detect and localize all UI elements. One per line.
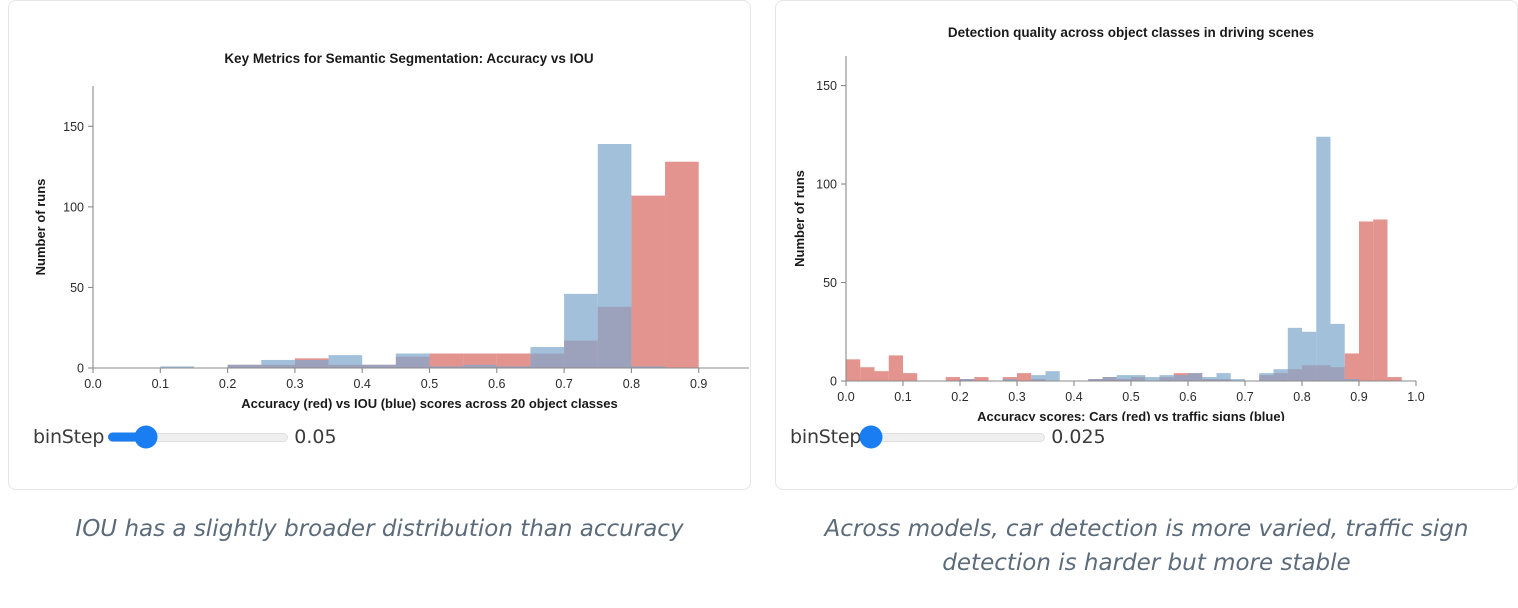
x-axis-label: Accuracy (red) vs IOU (blue) scores acro… xyxy=(241,396,617,411)
histogram-bar xyxy=(1174,375,1188,381)
x-axis-label: Accuracy scores: Cars (red) vs traffic s… xyxy=(977,409,1285,421)
histogram-bar xyxy=(430,353,464,368)
histogram-bar xyxy=(1373,219,1387,381)
histogram-bar xyxy=(261,360,295,368)
chart-title: Detection quality across object classes … xyxy=(948,25,1314,40)
histogram-bar xyxy=(1288,328,1302,381)
histogram-bar xyxy=(1259,373,1273,381)
binstep-slider-row-right[interactable]: binStep 0.025 xyxy=(790,426,1106,448)
histogram-bar xyxy=(665,162,699,368)
histogram-bar xyxy=(295,360,329,368)
histogram-bar xyxy=(530,347,564,368)
chart-title: Key Metrics for Semantic Segmentation: A… xyxy=(224,51,593,66)
chart-panel-right: Detection quality across object classes … xyxy=(775,0,1518,490)
binstep-slider-control[interactable] xyxy=(865,426,1045,448)
histogram-bar xyxy=(329,355,363,368)
histogram-bar xyxy=(946,377,960,381)
histogram-bar xyxy=(1388,377,1402,381)
chart-panel-left: Key Metrics for Semantic Segmentation: A… xyxy=(8,0,751,490)
histogram-bar xyxy=(1302,332,1316,381)
histogram-bar xyxy=(1345,353,1359,381)
histogram-series-blue xyxy=(160,144,665,368)
histogram-bar xyxy=(1331,324,1345,381)
dashboard-root: Key Metrics for Semantic Segmentation: A… xyxy=(0,0,1518,608)
binstep-slider-value: 0.05 xyxy=(294,426,336,448)
panel-column-right: Detection quality across object classes … xyxy=(775,0,1518,608)
histogram-series-blue xyxy=(960,137,1359,381)
x-tick-label: 0.0 xyxy=(84,377,101,391)
x-tick-label: 0.7 xyxy=(555,377,572,391)
histogram-bar xyxy=(1188,373,1202,381)
y-tick-label: 150 xyxy=(816,79,837,93)
slider-thumb[interactable] xyxy=(859,426,882,449)
x-tick-label: 0.6 xyxy=(488,377,505,391)
y-tick-label: 50 xyxy=(70,281,84,295)
panel-caption-left: IOU has a slightly broader distribution … xyxy=(8,512,751,546)
x-tick-label: 0.5 xyxy=(421,377,438,391)
histogram-bar xyxy=(631,196,665,368)
x-tick-label: 0.8 xyxy=(623,377,640,391)
histogram-bar xyxy=(1103,377,1117,381)
x-tick-label: 0.5 xyxy=(1122,390,1139,404)
binstep-slider-control[interactable] xyxy=(108,426,288,448)
histogram-bar xyxy=(1217,373,1231,381)
binstep-slider-value: 0.025 xyxy=(1051,426,1105,448)
histogram-bar xyxy=(860,367,874,381)
x-tick-label: 0.8 xyxy=(1293,390,1310,404)
slider-thumb[interactable] xyxy=(135,426,158,449)
binstep-slider-label: binStep xyxy=(33,426,104,448)
histogram-bar xyxy=(1202,377,1216,381)
x-tick-label: 0.4 xyxy=(354,377,371,391)
x-tick-label: 0.1 xyxy=(894,390,911,404)
x-tick-label: 0.3 xyxy=(286,377,303,391)
y-tick-label: 100 xyxy=(816,178,837,192)
x-tick-label: 0.2 xyxy=(219,377,236,391)
histogram-bar xyxy=(1160,375,1174,381)
histogram-bar xyxy=(598,144,632,368)
y-tick-label: 100 xyxy=(63,200,84,214)
x-tick-label: 0.2 xyxy=(951,390,968,404)
panel-caption-right: Across models, car detection is more var… xyxy=(775,512,1518,580)
histogram-bar xyxy=(846,359,860,381)
x-tick-label: 0.9 xyxy=(690,377,707,391)
histogram-bar xyxy=(1117,375,1131,381)
histogram-bar xyxy=(1145,377,1159,381)
x-tick-label: 0.1 xyxy=(152,377,169,391)
histogram-bar xyxy=(497,353,531,368)
x-tick-label: 0.4 xyxy=(1065,390,1082,404)
y-tick-label: 50 xyxy=(823,276,837,290)
x-tick-label: 0.6 xyxy=(1179,390,1196,404)
histogram-bar xyxy=(396,353,430,368)
x-tick-label: 0.0 xyxy=(837,390,854,404)
slider-track[interactable] xyxy=(865,433,1045,442)
x-tick-label: 0.7 xyxy=(1236,390,1253,404)
chart-plot-right: Detection quality across object classes … xyxy=(776,1,1516,421)
panel-column-left: Key Metrics for Semantic Segmentation: A… xyxy=(8,0,751,608)
chart-plot-left: Key Metrics for Semantic Segmentation: A… xyxy=(9,1,749,421)
y-axis-label: Number of runs xyxy=(33,179,48,276)
histogram-svg-right: Detection quality across object classes … xyxy=(776,1,1516,421)
histogram-bar xyxy=(875,371,889,381)
binstep-slider-label: binStep xyxy=(790,426,861,448)
y-tick-label: 0 xyxy=(77,362,84,376)
x-tick-label: 0.9 xyxy=(1350,390,1367,404)
histogram-bar xyxy=(1046,371,1060,381)
histogram-bar xyxy=(903,373,917,381)
x-tick-label: 1.0 xyxy=(1407,390,1424,404)
histogram-bar xyxy=(889,355,903,381)
histogram-svg-left: Key Metrics for Semantic Segmentation: A… xyxy=(9,1,749,421)
histogram-bar xyxy=(1131,375,1145,381)
histogram-bar xyxy=(1316,137,1330,381)
histogram-bar xyxy=(1017,373,1031,381)
y-tick-label: 0 xyxy=(830,375,837,389)
histogram-bar xyxy=(1274,369,1288,381)
y-tick-label: 150 xyxy=(63,120,84,134)
binstep-slider-row-left[interactable]: binStep 0.05 xyxy=(33,426,337,448)
histogram-bar xyxy=(1031,375,1045,381)
histogram-bar xyxy=(974,377,988,381)
histogram-bar xyxy=(564,294,598,368)
y-axis-label: Number of runs xyxy=(792,170,807,267)
histogram-bar xyxy=(1359,221,1373,381)
x-tick-label: 0.3 xyxy=(1008,390,1025,404)
